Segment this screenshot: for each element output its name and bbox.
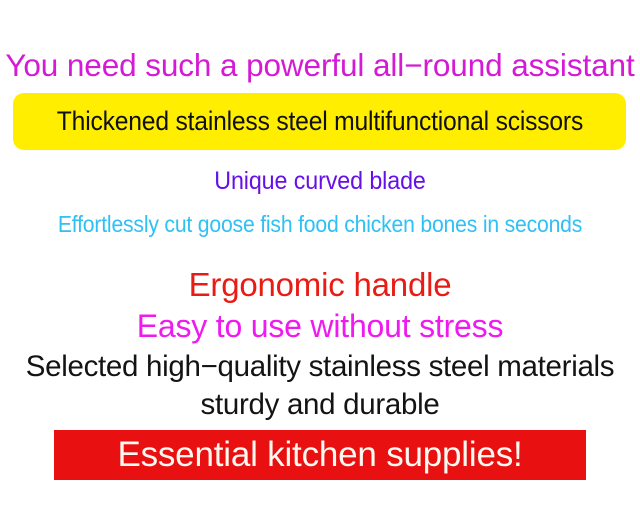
call-to-action-label: Essential kitchen supplies! [117,435,522,475]
feature-cut-in-seconds: Effortlessly cut goose fish food chicken… [32,212,608,237]
call-to-action-banner: Essential kitchen supplies! [54,430,586,480]
headline-text: You need such a powerful all−round assis… [0,49,640,82]
body-copy-line-2: sturdy and durable [0,390,640,421]
promo-poster: You need such a powerful all−round assis… [0,0,640,525]
feature-unique-curved-blade: Unique curved blade [22,168,617,194]
feature-easy-to-use: Easy to use without stress [0,310,640,344]
body-copy-line-1: Selected high−quality stainless steel ma… [0,352,640,383]
feature-ergonomic-handle: Ergonomic handle [0,268,640,303]
product-name-banner: Thickened stainless steel multifunctiona… [13,93,626,150]
product-name-label: Thickened stainless steel multifunctiona… [56,106,582,137]
